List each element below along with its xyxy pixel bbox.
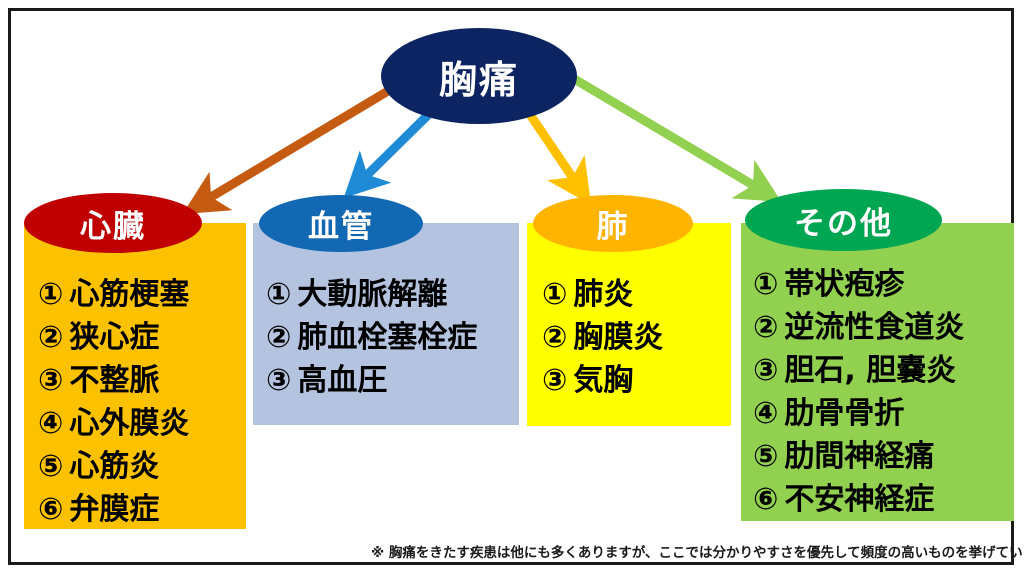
list-item: ①肺炎 — [542, 273, 663, 316]
list-item-number: ③ — [753, 349, 778, 392]
list-item-label: 大動脈解離 — [297, 273, 447, 316]
list-item-label: 不安神経症 — [784, 478, 934, 521]
item-list-lung: ①肺炎②胸膜炎③気胸 — [542, 273, 663, 402]
list-item: ③胆石, 胆嚢炎 — [753, 349, 964, 392]
footnote: ※ 胸痛をきたす疾患は他にも多くありますが、ここでは分かりやすさを優先して頻度の… — [371, 541, 1024, 561]
list-item: ⑥弁膜症 — [38, 488, 189, 531]
node-category-other-label: その他 — [794, 198, 893, 243]
list-item-number: ⑤ — [38, 445, 63, 488]
list-item: ⑥不安神経症 — [753, 478, 964, 521]
list-item-number: ① — [753, 263, 778, 306]
arrow-root-to-vessel — [359, 114, 429, 183]
node-root-label: 胸痛 — [439, 49, 519, 104]
list-item-number: ④ — [38, 402, 63, 445]
node-root-chest-pain[interactable]: 胸痛 — [381, 28, 577, 124]
list-item-number: ② — [38, 316, 63, 359]
list-item: ⑤心筋炎 — [38, 445, 189, 488]
arrow-root-to-lung — [529, 113, 579, 187]
list-item-label: 心外膜炎 — [69, 402, 189, 445]
list-item-label: 肋間神経痛 — [784, 435, 934, 478]
list-item-number: ② — [542, 316, 567, 359]
list-item-number: ① — [266, 273, 291, 316]
list-item-number: ⑥ — [753, 478, 778, 521]
list-item: ①帯状疱疹 — [753, 263, 964, 306]
list-item: ③高血圧 — [266, 359, 477, 402]
list-item-number: ③ — [542, 359, 567, 402]
diagram-frame: 胸痛 心臓 血管 肺 その他 ①心筋梗塞②狭心症③不整脈④心外膜炎⑤心筋炎⑥弁膜… — [8, 8, 1014, 565]
list-item-label: 逆流性食道炎 — [784, 306, 964, 349]
list-item-label: 肺炎 — [573, 273, 633, 316]
list-item-label: 不整脈 — [69, 359, 159, 402]
list-item: ①心筋梗塞 — [38, 273, 189, 316]
diagram-canvas: 胸痛 心臓 血管 肺 その他 ①心筋梗塞②狭心症③不整脈④心外膜炎⑤心筋炎⑥弁膜… — [0, 0, 1024, 575]
list-item-label: 肺血栓塞栓症 — [297, 316, 477, 359]
list-item: ⑤肋間神経痛 — [753, 435, 964, 478]
list-item-number: ④ — [753, 392, 778, 435]
list-item-label: 気胸 — [573, 359, 633, 402]
arrow-root-to-heart — [201, 88, 393, 203]
list-item-label: 胆石, 胆嚢炎 — [784, 349, 956, 392]
list-item-label: 帯状疱疹 — [784, 263, 904, 306]
node-category-lung-label: 肺 — [597, 201, 630, 246]
list-item-label: 心筋梗塞 — [69, 273, 189, 316]
item-list-other: ①帯状疱疹②逆流性食道炎③胆石, 胆嚢炎④肋骨骨折⑤肋間神経痛⑥不安神経症 — [753, 263, 964, 521]
list-item-number: ① — [38, 273, 63, 316]
list-item: ②肺血栓塞栓症 — [266, 316, 477, 359]
list-item: ④心外膜炎 — [38, 402, 189, 445]
list-item: ③不整脈 — [38, 359, 189, 402]
list-item: ④肋骨骨折 — [753, 392, 964, 435]
list-item-number: ⑤ — [753, 435, 778, 478]
item-list-vessel: ①大動脈解離②肺血栓塞栓症③高血圧 — [266, 273, 477, 402]
list-item: ②胸膜炎 — [542, 316, 663, 359]
list-item-number: ③ — [266, 359, 291, 402]
node-category-heart-label: 心臓 — [80, 201, 146, 246]
node-category-vessel-label: 血管 — [308, 201, 374, 246]
list-item-label: 胸膜炎 — [573, 316, 663, 359]
list-item: ②逆流性食道炎 — [753, 306, 964, 349]
arrow-root-to-other — [571, 77, 763, 191]
list-item: ③気胸 — [542, 359, 663, 402]
list-item: ①大動脈解離 — [266, 273, 477, 316]
list-item-label: 狭心症 — [69, 316, 159, 359]
list-item-label: 弁膜症 — [69, 488, 159, 531]
item-list-heart: ①心筋梗塞②狭心症③不整脈④心外膜炎⑤心筋炎⑥弁膜症 — [38, 273, 189, 531]
list-item-number: ③ — [38, 359, 63, 402]
list-item-number: ① — [542, 273, 567, 316]
node-category-heart[interactable]: 心臓 — [24, 193, 202, 253]
node-category-vessel[interactable]: 血管 — [259, 195, 423, 252]
list-item-label: 高血圧 — [297, 359, 387, 402]
list-item-number: ② — [753, 306, 778, 349]
list-item-label: 心筋炎 — [69, 445, 159, 488]
list-item-number: ⑥ — [38, 488, 63, 531]
list-item-label: 肋骨骨折 — [784, 392, 904, 435]
list-item-number: ② — [266, 316, 291, 359]
node-category-lung[interactable]: 肺 — [533, 195, 693, 252]
list-item: ②狭心症 — [38, 316, 189, 359]
node-category-other[interactable]: その他 — [745, 189, 942, 251]
